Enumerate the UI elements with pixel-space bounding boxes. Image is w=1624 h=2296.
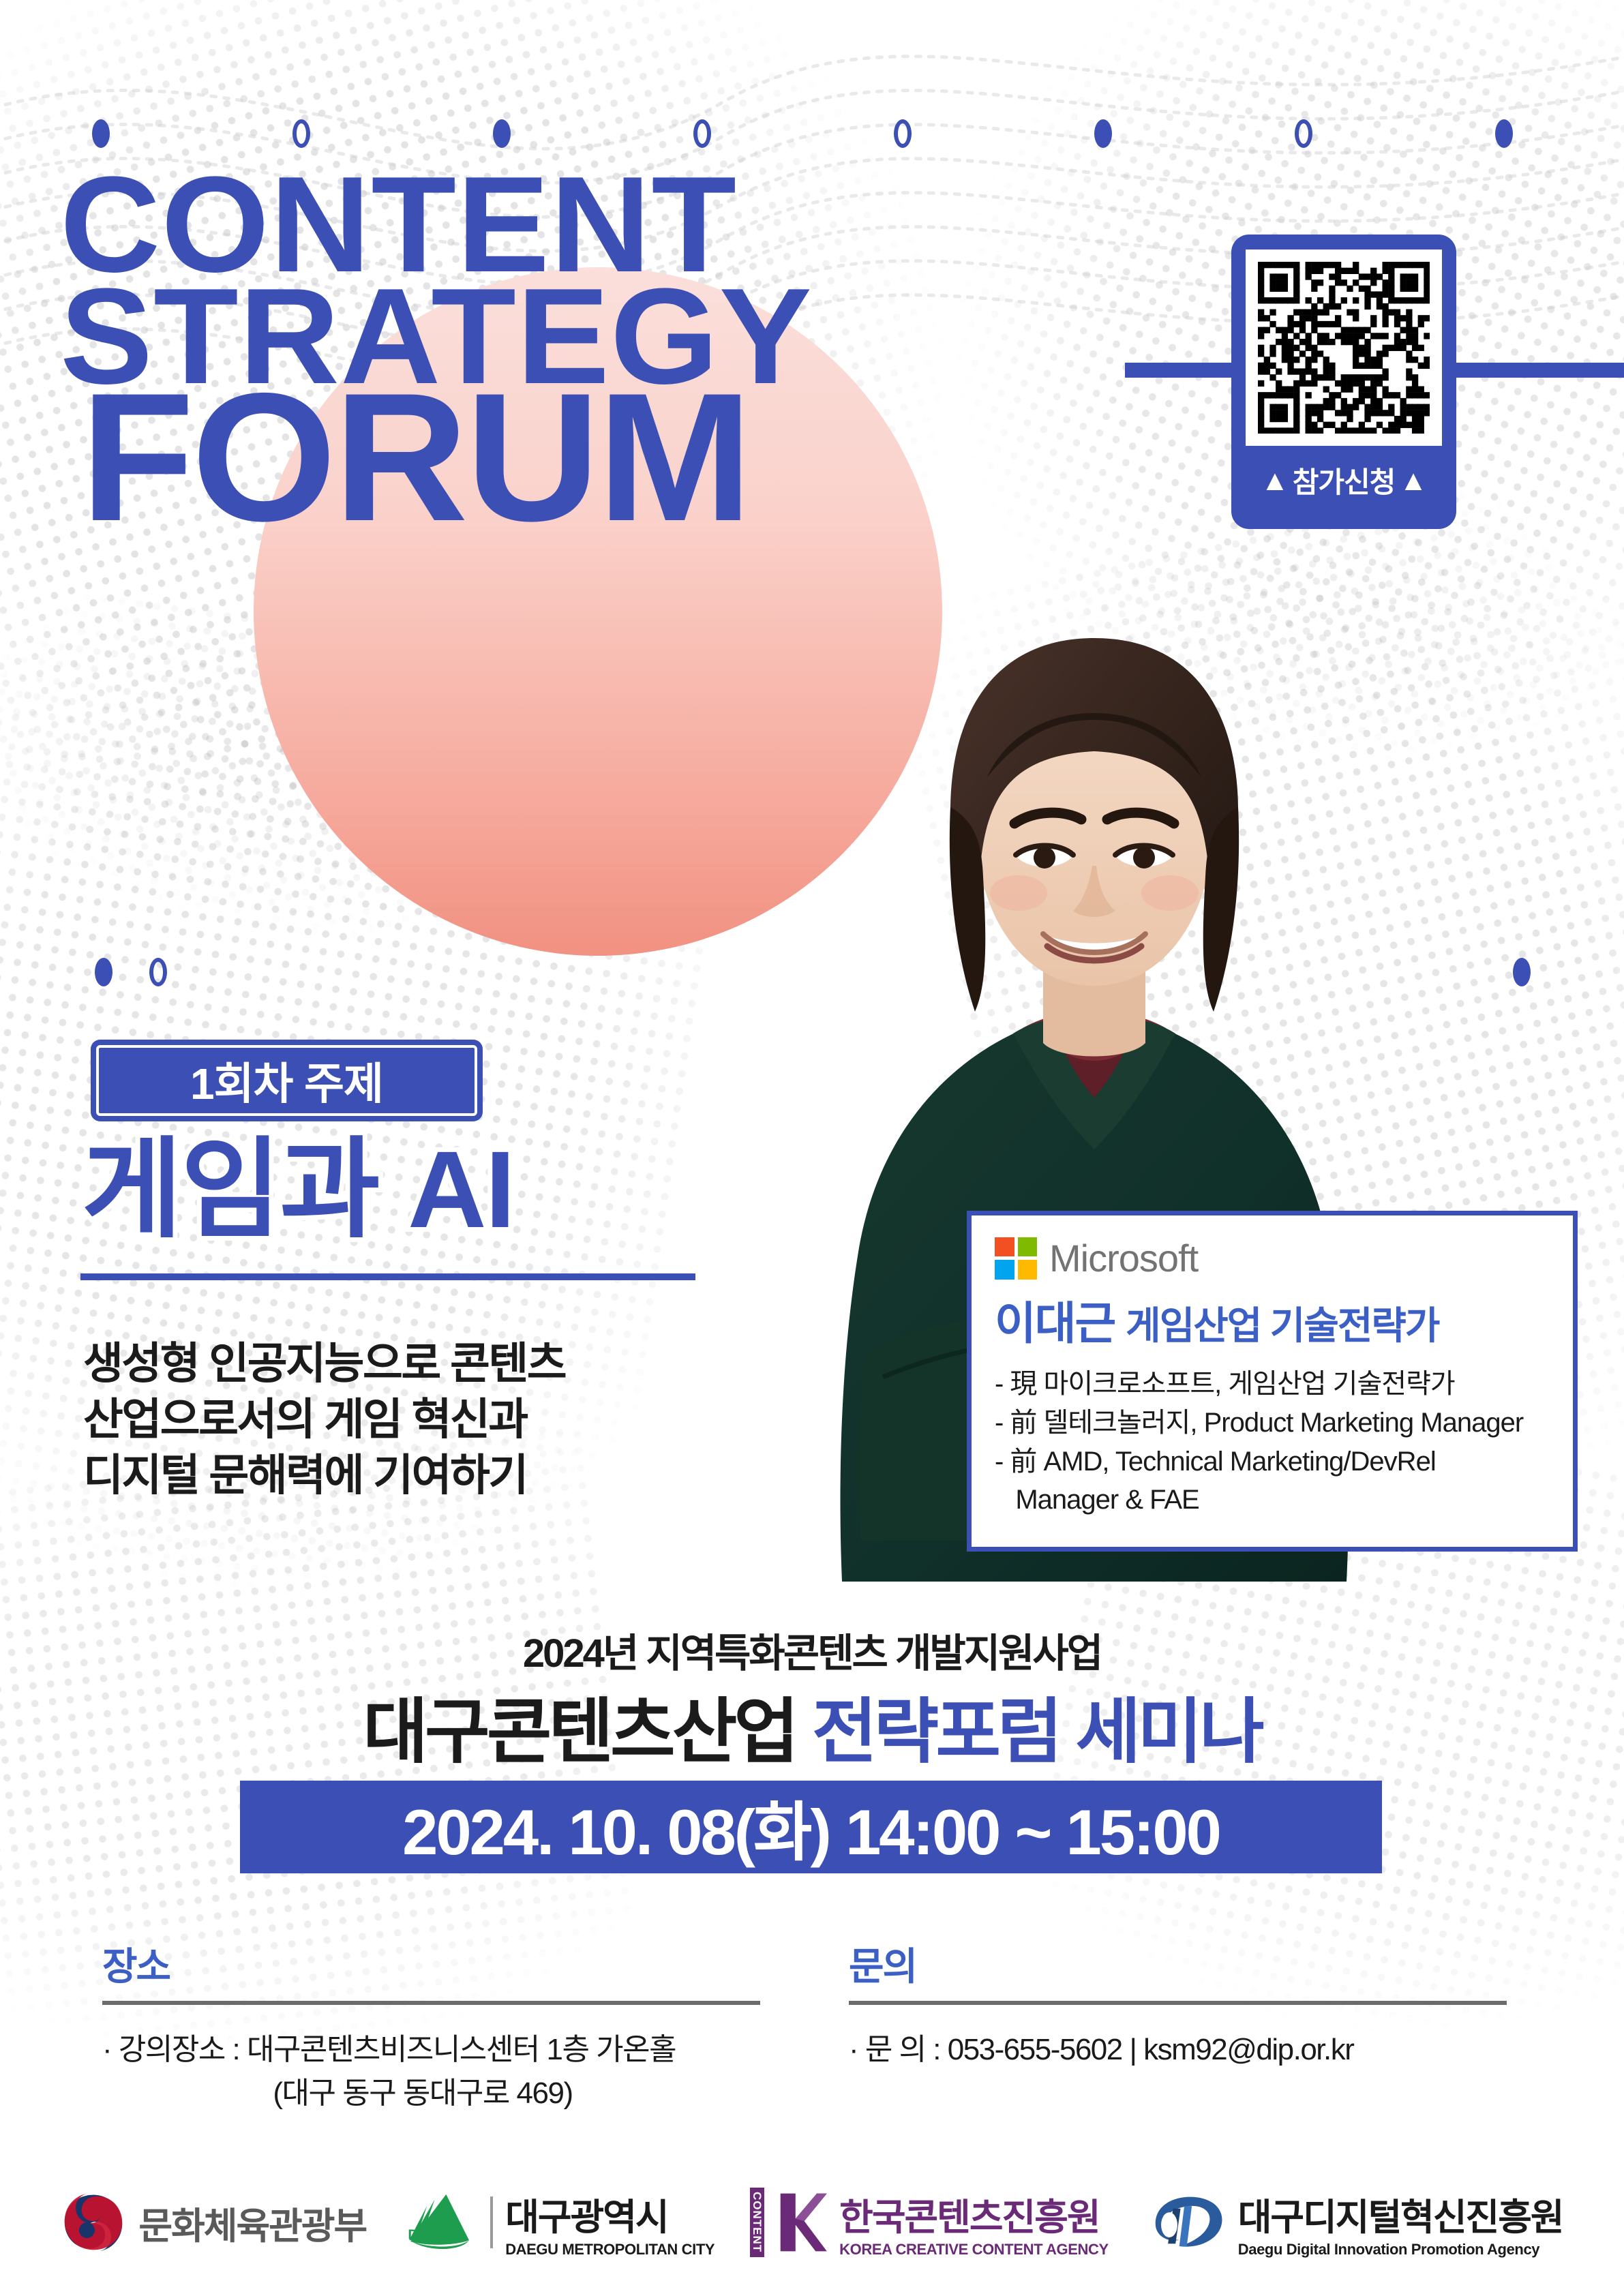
qr-code-image[interactable] xyxy=(1246,250,1442,446)
logo-kocca-label-en: KOREA CREATIVE CONTENT AGENCY xyxy=(839,2241,1109,2259)
speaker-bio-item: - 現 마이크로소프트, 게임산업 기술전략가 xyxy=(995,1365,1550,1404)
qr-label: ▲참가신청▲ xyxy=(1261,459,1427,501)
event-title-blue: 전략포럼 세미나 xyxy=(812,1693,1261,1772)
venue-line-2: (대구 동구 동대구로 469) xyxy=(102,2072,784,2115)
topic-description-line-3: 디지털 문해력에 기여하기 xyxy=(83,1448,565,1504)
logo-mcst-label: 문화체육관광부 xyxy=(138,2196,366,2250)
speaker-identity: 이대근 게임산업 기술전략가 xyxy=(995,1287,1550,1353)
qr-registration-box[interactable]: ▲참가신청▲ xyxy=(1231,235,1456,529)
contact-divider xyxy=(849,2001,1507,2005)
speaker-bio-item: Manager & FAE xyxy=(995,1481,1550,1520)
microsoft-wordmark: Microsoft xyxy=(1049,1236,1198,1280)
session-badge-label: 1회차 주제 xyxy=(190,1049,383,1112)
event-title: 대구콘텐츠산업 전략포럼 세미나 xyxy=(0,1674,1624,1777)
speaker-name: 이대근 xyxy=(995,1287,1115,1353)
topic-description-line-2: 산업으로서의 게임 혁신과 xyxy=(83,1392,565,1448)
qr-label-text: 참가신청 xyxy=(1293,459,1396,501)
venue-heading: 장소 xyxy=(102,1936,784,1991)
svg-text:DAEGU: DAEGU xyxy=(408,2226,459,2242)
microsoft-logo: Microsoft xyxy=(995,1236,1550,1280)
kocca-k-icon xyxy=(777,2191,827,2254)
decor-dot-filled xyxy=(1513,958,1531,986)
arrow-up-icon-left: ▲ xyxy=(1261,464,1289,497)
decor-dot-hollow xyxy=(149,958,167,986)
contact-section: 문의 · 문 의 : 053-655-5602 | ksm92@dip.or.k… xyxy=(849,1936,1531,2072)
decor-dot-filled xyxy=(95,958,112,986)
contact-body: · 문 의 : 053-655-5602 | ksm92@dip.or.kr xyxy=(849,2028,1531,2072)
logo-daegu-city-label-en: DAEGU METROPOLITAN CITY xyxy=(505,2241,715,2259)
event-datetime-banner: 2024. 10. 08(화) 14:00 ~ 15:00 xyxy=(240,1781,1382,1873)
topic-title: 게임과 AI xyxy=(82,1135,514,1244)
topic-divider xyxy=(80,1273,695,1280)
logo-dip: 대구디지털혁신진흥원 Daegu Digital Innovation Prom… xyxy=(1144,2187,1563,2259)
logo-dip-label-en: Daegu Digital Innovation Promotion Agenc… xyxy=(1238,2241,1563,2259)
speaker-bio-item: - 前 델테크놀러지, Product Marketing Manager xyxy=(995,1404,1550,1442)
topic-description-line-1: 생성형 인공지능으로 콘텐츠 xyxy=(83,1336,565,1392)
logo-kocca: CONTENT 한국콘텐츠진흥원 KOREA CREATIVE CONTENT … xyxy=(750,2187,1109,2259)
footer-logo-bar: 문화체육관광부 DAEGU 대구광역시 DAEGU METROPOLITAN C… xyxy=(0,2168,1624,2277)
venue-body: · 강의장소 : 대구콘텐츠비즈니스센터 1층 가온홀 (대구 동구 동대구로 … xyxy=(102,2028,784,2115)
korea-government-taegeuk-icon xyxy=(61,2190,126,2255)
speaker-bio-list: - 現 마이크로소프트, 게임산업 기술전략가 - 前 델테크놀러지, Prod… xyxy=(995,1365,1550,1520)
logo-daegu-city: DAEGU 대구광역시 DAEGU METROPOLITAN CITY xyxy=(402,2187,715,2259)
contact-line-1: · 문 의 : 053-655-5602 | ksm92@dip.or.kr xyxy=(849,2033,1353,2066)
microsoft-squares-icon xyxy=(995,1237,1037,1280)
venue-divider xyxy=(102,2001,760,2005)
hero-line-forum: FORUM xyxy=(80,375,812,539)
speaker-role: 게임산업 기술전략가 xyxy=(1126,1295,1439,1350)
logo-divider xyxy=(490,2196,493,2248)
logo-daegu-city-label-ko: 대구광역시 xyxy=(505,2187,715,2241)
contact-heading: 문의 xyxy=(849,1936,1531,1991)
event-title-dark: 대구콘텐츠산업 xyxy=(363,1693,796,1772)
event-subtitle: 2024년 지역특화콘텐츠 개발지원사업 xyxy=(0,1621,1624,1678)
speaker-bio-item: - 前 AMD, Technical Marketing/DevRel xyxy=(995,1442,1550,1481)
logo-mcst: 문화체육관광부 xyxy=(61,2190,366,2255)
arrow-up-icon-right: ▲ xyxy=(1399,464,1427,497)
venue-line-1: · 강의장소 : 대구콘텐츠비즈니스센터 1층 가온홀 xyxy=(102,2033,676,2066)
hero-title: CONTENT STRATEGY FORUM xyxy=(60,164,798,539)
event-datetime: 2024. 10. 08(화) 14:00 ~ 15:00 xyxy=(402,1781,1220,1873)
session-badge: 1회차 주제 xyxy=(91,1040,483,1121)
venue-section: 장소 · 강의장소 : 대구콘텐츠비즈니스센터 1층 가온홀 (대구 동구 동대… xyxy=(102,1936,784,2115)
dip-swirl-icon xyxy=(1144,2191,1226,2254)
logo-kocca-label-ko: 한국콘텐츠진흥원 xyxy=(839,2187,1109,2241)
logo-dip-label-ko: 대구디지털혁신진흥원 xyxy=(1238,2187,1563,2241)
topic-description: 생성형 인공지능으로 콘텐츠 산업으로서의 게임 혁신과 디지털 문해력에 기여… xyxy=(83,1336,565,1504)
kocca-content-vertical-mark: CONTENT xyxy=(750,2188,764,2256)
daegu-mountain-icon: DAEGU xyxy=(402,2190,478,2255)
speaker-card: Microsoft 이대근 게임산업 기술전략가 - 現 마이크로소프트, 게임… xyxy=(967,1211,1578,1552)
